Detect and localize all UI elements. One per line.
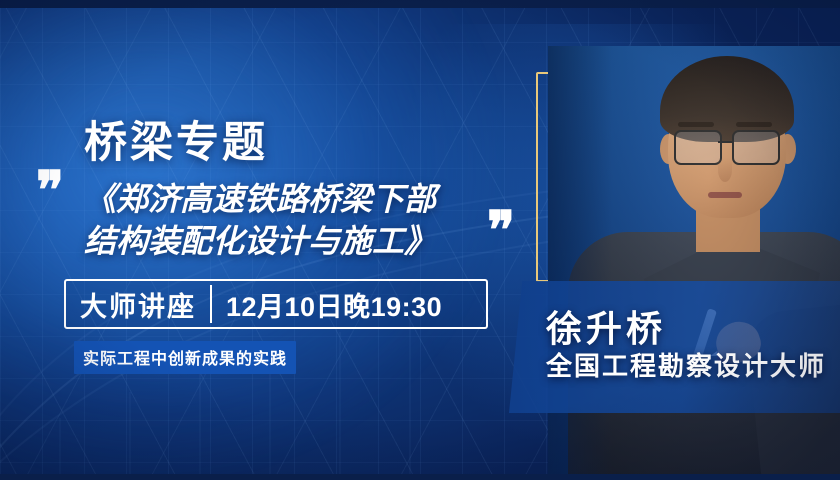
photo-glasses-right-lens (732, 130, 780, 165)
quote-open-icon: ❞ (36, 166, 64, 218)
lecture-datetime: 12月10日晚19:30 (212, 281, 456, 327)
bottom-edge-bar (0, 474, 840, 480)
photo-glasses-left-lens (674, 130, 722, 165)
top-edge-bar (0, 0, 840, 8)
lecture-info-bar: 大师讲座 12月10日晚19:30 (64, 279, 488, 329)
subtitle-line-1: 《郑济高速铁路桥梁下部 (84, 178, 514, 220)
page-title: 桥梁专题 (84, 108, 268, 170)
tagline-badge: 实际工程中创新成果的实践 (74, 341, 296, 374)
speaker-title: 全国工程勘察设计大师 (546, 346, 826, 383)
subtitle-line-2: 结构装配化设计与施工》 (84, 220, 514, 262)
photo-glasses-bridge (718, 141, 732, 143)
photo-nose (718, 158, 732, 182)
photo-mouth (708, 192, 742, 198)
speaker-name: 徐升桥 (546, 300, 666, 352)
subtitle-block: 《郑济高速铁路桥梁下部 结构装配化设计与施工》 (84, 178, 514, 262)
photo-eyebrow-right (736, 122, 772, 127)
photo-eyebrow-left (678, 122, 714, 127)
lecture-type-label: 大师讲座 (66, 281, 210, 327)
poster-canvas: 桥梁专题 ❞ ❞ 《郑济高速铁路桥梁下部 结构装配化设计与施工》 大师讲座 12… (0, 0, 840, 480)
speaker-photo (548, 46, 840, 480)
